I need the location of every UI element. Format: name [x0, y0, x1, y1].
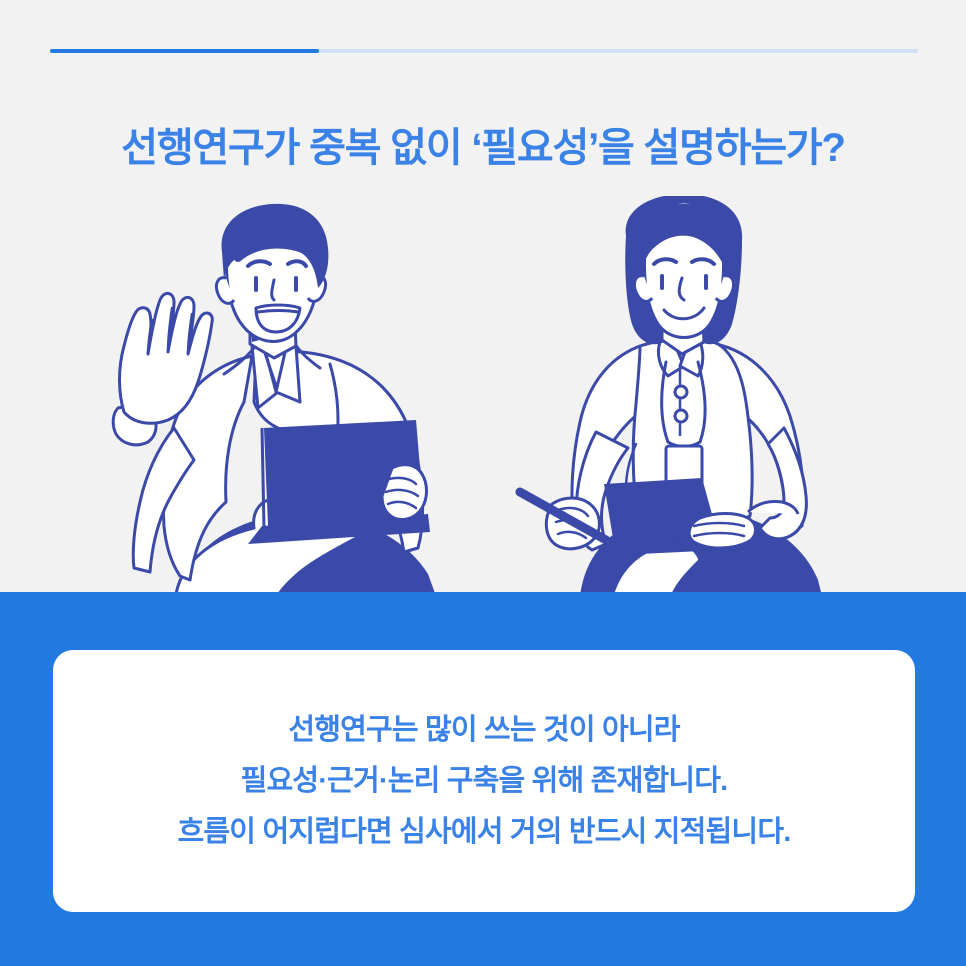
- message-line-1: 선행연구는 많이 쓰는 것이 아니라: [79, 705, 889, 756]
- card-news-slide: 선행연구가 중복 없이 ‘필요성’을 설명하는가?: [0, 0, 966, 966]
- top-progress-rule: [50, 49, 918, 53]
- illustration: [0, 196, 966, 592]
- page-title: 선행연구가 중복 없이 ‘필요성’을 설명하는가?: [0, 123, 966, 173]
- woman-with-clipboard-figure: [520, 196, 822, 592]
- man-with-laptop-figure: [113, 204, 436, 592]
- message-line-2: 필요성·근거·논리 구축을 위해 존재합니다.: [79, 756, 889, 807]
- message-card: 선행연구는 많이 쓰는 것이 아니라 필요성·근거·논리 구축을 위해 존재합니…: [53, 650, 915, 912]
- message-line-3: 흐름이 어지럽다면 심사에서 거의 반드시 지적됩니다.: [79, 806, 889, 857]
- message-card-text: 선행연구는 많이 쓰는 것이 아니라 필요성·근거·논리 구축을 위해 존재합니…: [53, 705, 915, 857]
- top-progress-rule-fill: [50, 49, 319, 53]
